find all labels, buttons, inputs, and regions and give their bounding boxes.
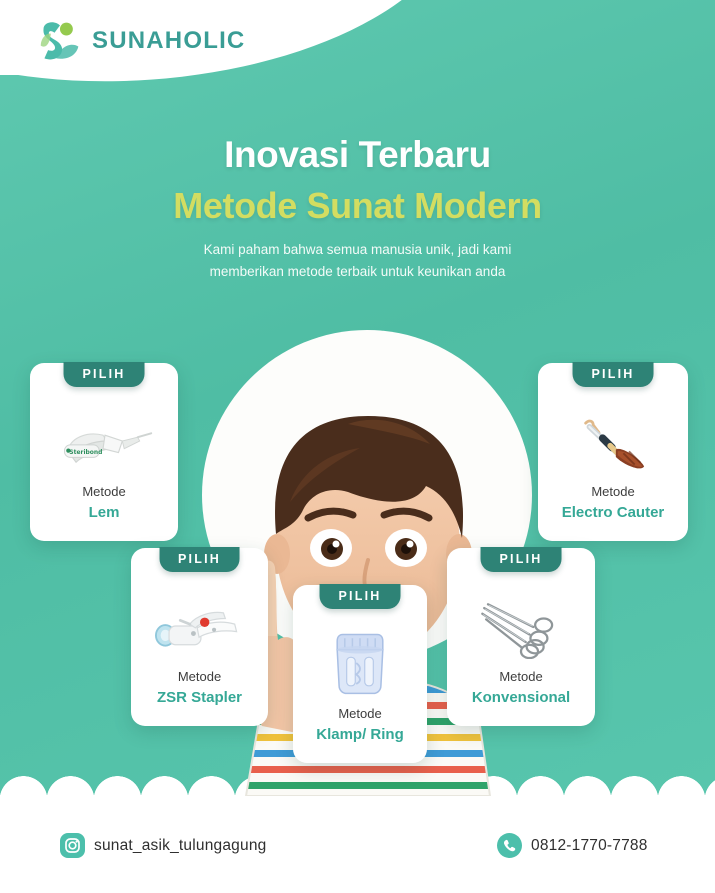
method-name: ZSR Stapler	[131, 687, 268, 709]
method-name: Klamp/ Ring	[293, 724, 427, 746]
instagram-contact[interactable]: sunat_asik_tulungagung	[60, 833, 266, 858]
zsr-stapler-device-icon	[131, 584, 268, 668]
headline-line-1: Inovasi Terbaru	[0, 133, 715, 177]
brand-logo: SUNAHOLIC	[38, 18, 245, 64]
subtitle-line-2: memberikan metode terbaik untuk keunikan…	[0, 261, 715, 283]
subtitle-line-1: Kami paham bahwa semua manusia unik, jad…	[0, 239, 715, 261]
pilih-badge: PILIH	[320, 584, 401, 609]
phone-icon	[497, 833, 522, 858]
footer: sunat_asik_tulungagung 0812-1770-7788	[0, 798, 715, 893]
electro-cautery-pen-icon	[538, 399, 688, 483]
card-labels: Metode Konvensional	[447, 668, 595, 721]
sunaholic-logo-mark-icon	[38, 18, 82, 64]
card-labels: Metode Klamp/ Ring	[293, 705, 427, 758]
svg-text:Steribond: Steribond	[69, 449, 102, 456]
method-name: Electro Cauter	[538, 502, 688, 524]
instagram-icon	[60, 833, 85, 858]
method-card-lem[interactable]: PILIH Steribond Metode Lem	[30, 363, 178, 541]
card-labels: Metode Lem	[30, 483, 178, 536]
method-card-klamp-ring[interactable]: PILIH Metode Klamp/ Ring	[293, 585, 427, 763]
poster: SUNAHOLIC Inovasi Terbaru Metode Sunat M…	[0, 0, 715, 893]
method-prefix: Metode	[538, 483, 688, 502]
phone-number: 0812-1770-7788	[531, 837, 648, 855]
method-prefix: Metode	[30, 483, 178, 502]
method-name: Lem	[30, 502, 178, 524]
pilih-badge: PILIH	[573, 362, 654, 387]
surgical-scissors-forceps-icon	[447, 584, 595, 668]
method-card-konvensional[interactable]: PILIH Metode Konvensional	[447, 548, 595, 726]
method-name: Konvensional	[447, 687, 595, 709]
card-labels: Metode Electro Cauter	[538, 483, 688, 536]
pilih-badge: PILIH	[64, 362, 145, 387]
method-prefix: Metode	[293, 705, 427, 724]
method-prefix: Metode	[131, 668, 268, 687]
brand-name: SUNAHOLIC	[92, 27, 245, 55]
plastic-clamp-ring-icon	[293, 621, 427, 705]
pilih-badge: PILIH	[159, 547, 240, 572]
card-labels: Metode ZSR Stapler	[131, 668, 268, 721]
phone-contact[interactable]: 0812-1770-7788	[497, 833, 648, 858]
method-card-electro-cauter[interactable]: PILIH Metode Electro Cauter	[538, 363, 688, 541]
instagram-handle: sunat_asik_tulungagung	[94, 837, 266, 855]
pilih-badge: PILIH	[481, 547, 562, 572]
glue-applicator-steribond-icon: Steribond	[30, 399, 178, 483]
method-prefix: Metode	[447, 668, 595, 687]
subtitle: Kami paham bahwa semua manusia unik, jad…	[0, 239, 715, 283]
headline-line-2: Metode Sunat Modern	[0, 183, 715, 230]
headline-block: Inovasi Terbaru Metode Sunat Modern Kami…	[0, 133, 715, 283]
method-card-zsr-stapler[interactable]: PILIH Metode ZSR Stapler	[131, 548, 268, 726]
